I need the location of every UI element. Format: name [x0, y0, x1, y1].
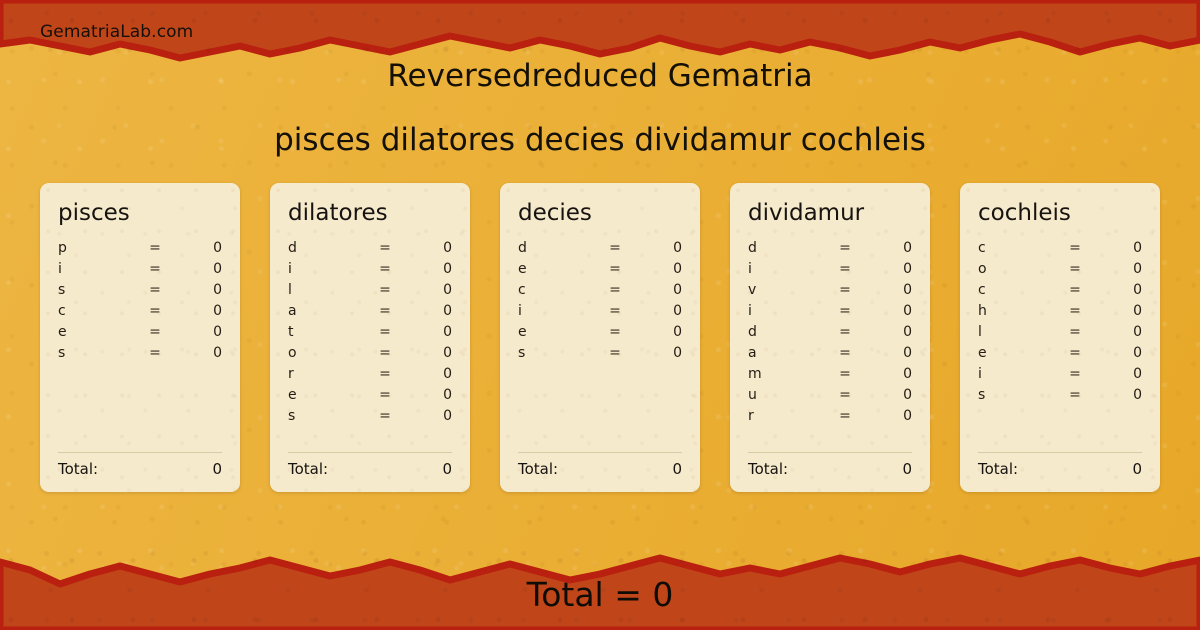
- card-divider: [58, 452, 222, 453]
- letter-label: i: [518, 303, 596, 319]
- letter-value: 0: [174, 261, 222, 277]
- letter-row: e = 0: [518, 324, 682, 345]
- letter-value: 0: [1094, 282, 1142, 298]
- letter-value: 0: [404, 261, 452, 277]
- letter-row: r = 0: [748, 408, 912, 429]
- letter-label: o: [288, 345, 366, 361]
- letter-value: 0: [864, 282, 912, 298]
- letter-label: e: [978, 345, 1056, 361]
- letter-value: 0: [404, 324, 452, 340]
- equals-sign: =: [596, 261, 634, 277]
- card-total-label: Total:: [748, 460, 788, 478]
- card-total-row: Total: 0: [748, 460, 912, 478]
- letter-label: d: [288, 240, 366, 256]
- equals-sign: =: [1056, 324, 1094, 340]
- letter-row: o = 0: [288, 345, 452, 366]
- letter-label: o: [978, 261, 1056, 277]
- letter-label: c: [58, 303, 136, 319]
- equals-sign: =: [1056, 366, 1094, 382]
- equals-sign: =: [366, 303, 404, 319]
- letter-label: r: [288, 366, 366, 382]
- letter-label: d: [748, 240, 826, 256]
- equals-sign: =: [366, 345, 404, 361]
- card-divider: [288, 452, 452, 453]
- letter-label: i: [748, 261, 826, 277]
- equals-sign: =: [366, 282, 404, 298]
- letter-value: 0: [404, 240, 452, 256]
- word-card-title: dividamur: [748, 201, 912, 226]
- letter-row: i = 0: [288, 261, 452, 282]
- equals-sign: =: [136, 303, 174, 319]
- letter-value: 0: [634, 303, 682, 319]
- equals-sign: =: [136, 324, 174, 340]
- letter-value: 0: [1094, 324, 1142, 340]
- letter-label: i: [978, 366, 1056, 382]
- letter-value-rows: c = 0 o = 0 c = 0 h = 0: [978, 240, 1142, 442]
- word-card: pisces p = 0 i = 0 s = 0 c: [40, 183, 240, 492]
- letter-value: 0: [634, 282, 682, 298]
- letter-row: a = 0: [748, 345, 912, 366]
- letter-row: s = 0: [518, 345, 682, 366]
- letter-label: c: [978, 282, 1056, 298]
- letter-label: e: [518, 261, 596, 277]
- letter-row: m = 0: [748, 366, 912, 387]
- word-card-list: pisces p = 0 i = 0 s = 0 c: [40, 183, 1160, 492]
- equals-sign: =: [826, 240, 864, 256]
- letter-row: i = 0: [978, 366, 1142, 387]
- letter-label: a: [748, 345, 826, 361]
- letter-value: 0: [174, 303, 222, 319]
- letter-value: 0: [404, 345, 452, 361]
- letter-value: 0: [864, 261, 912, 277]
- equals-sign: =: [826, 282, 864, 298]
- card-total-label: Total:: [58, 460, 98, 478]
- letter-value-rows: d = 0 i = 0 l = 0 a = 0: [288, 240, 452, 442]
- letter-label: s: [518, 345, 596, 361]
- equals-sign: =: [136, 345, 174, 361]
- letter-row: i = 0: [748, 261, 912, 282]
- equals-sign: =: [366, 366, 404, 382]
- card-total-value: 0: [672, 460, 682, 478]
- letter-value: 0: [404, 366, 452, 382]
- letter-label: s: [978, 387, 1056, 403]
- card-total-row: Total: 0: [58, 460, 222, 478]
- letter-row: h = 0: [978, 303, 1142, 324]
- letter-row: l = 0: [978, 324, 1142, 345]
- letter-row: t = 0: [288, 324, 452, 345]
- equals-sign: =: [596, 303, 634, 319]
- letter-value: 0: [864, 408, 912, 424]
- word-card-title: dilatores: [288, 201, 452, 226]
- card-divider: [518, 452, 682, 453]
- card-total-value: 0: [1132, 460, 1142, 478]
- letter-value: 0: [634, 261, 682, 277]
- letter-row: i = 0: [58, 261, 222, 282]
- card-total-label: Total:: [518, 460, 558, 478]
- equals-sign: =: [596, 282, 634, 298]
- letter-label: s: [58, 345, 136, 361]
- letter-row: c = 0: [978, 282, 1142, 303]
- letter-row: u = 0: [748, 387, 912, 408]
- card-divider: [978, 452, 1142, 453]
- equals-sign: =: [366, 261, 404, 277]
- letter-row: d = 0: [748, 324, 912, 345]
- letter-label: t: [288, 324, 366, 340]
- letter-label: i: [288, 261, 366, 277]
- letter-value: 0: [1094, 387, 1142, 403]
- letter-value: 0: [634, 240, 682, 256]
- equals-sign: =: [1056, 345, 1094, 361]
- word-card-title: pisces: [58, 201, 222, 226]
- equals-sign: =: [596, 345, 634, 361]
- letter-label: e: [288, 387, 366, 403]
- card-total-value: 0: [902, 460, 912, 478]
- letter-value: 0: [864, 240, 912, 256]
- equals-sign: =: [826, 261, 864, 277]
- equals-sign: =: [1056, 303, 1094, 319]
- equals-sign: =: [1056, 282, 1094, 298]
- letter-label: p: [58, 240, 136, 256]
- letter-row: e = 0: [518, 261, 682, 282]
- letter-label: u: [748, 387, 826, 403]
- letter-value: 0: [174, 324, 222, 340]
- letter-row: e = 0: [58, 324, 222, 345]
- word-card: dividamur d = 0 i = 0 v = 0 i: [730, 183, 930, 492]
- card-total-row: Total: 0: [288, 460, 452, 478]
- letter-row: r = 0: [288, 366, 452, 387]
- equals-sign: =: [136, 261, 174, 277]
- letter-row: v = 0: [748, 282, 912, 303]
- letter-label: c: [518, 282, 596, 298]
- letter-value: 0: [404, 303, 452, 319]
- equals-sign: =: [826, 345, 864, 361]
- letter-value: 0: [1094, 303, 1142, 319]
- grand-total: Total = 0: [0, 575, 1200, 614]
- letter-label: i: [58, 261, 136, 277]
- equals-sign: =: [1056, 240, 1094, 256]
- card-total-row: Total: 0: [518, 460, 682, 478]
- letter-value: 0: [404, 387, 452, 403]
- letter-value: 0: [174, 345, 222, 361]
- letter-label: a: [288, 303, 366, 319]
- equals-sign: =: [366, 408, 404, 424]
- card-total-label: Total:: [978, 460, 1018, 478]
- card-total-value: 0: [212, 460, 222, 478]
- card-total-row: Total: 0: [978, 460, 1142, 478]
- letter-value-rows: d = 0 e = 0 c = 0 i = 0: [518, 240, 682, 442]
- letter-row: e = 0: [978, 345, 1142, 366]
- letter-label: l: [978, 324, 1056, 340]
- letter-value: 0: [174, 282, 222, 298]
- letter-label: e: [58, 324, 136, 340]
- letter-row: l = 0: [288, 282, 452, 303]
- letter-label: d: [518, 240, 596, 256]
- letter-value: 0: [1094, 240, 1142, 256]
- letter-row: i = 0: [518, 303, 682, 324]
- site-logo[interactable]: GematriaLab.com: [40, 22, 193, 42]
- letter-row: s = 0: [978, 387, 1142, 408]
- letter-label: m: [748, 366, 826, 382]
- letter-row: o = 0: [978, 261, 1142, 282]
- letter-label: r: [748, 408, 826, 424]
- word-card: cochleis c = 0 o = 0 c = 0 h: [960, 183, 1160, 492]
- letter-label: v: [748, 282, 826, 298]
- letter-row: d = 0: [288, 240, 452, 261]
- letter-value: 0: [634, 345, 682, 361]
- equals-sign: =: [826, 387, 864, 403]
- equals-sign: =: [366, 387, 404, 403]
- word-card-title: decies: [518, 201, 682, 226]
- letter-row: e = 0: [288, 387, 452, 408]
- equals-sign: =: [826, 366, 864, 382]
- letter-label: d: [748, 324, 826, 340]
- equals-sign: =: [136, 240, 174, 256]
- gematria-result-card: GematriaLab.com Reversedreduced Gematria…: [0, 0, 1200, 630]
- letter-row: d = 0: [518, 240, 682, 261]
- letter-label: e: [518, 324, 596, 340]
- letter-value: 0: [864, 345, 912, 361]
- letter-row: c = 0: [518, 282, 682, 303]
- letter-label: s: [288, 408, 366, 424]
- letter-label: s: [58, 282, 136, 298]
- page-title: Reversedreduced Gematria: [0, 58, 1200, 94]
- equals-sign: =: [1056, 261, 1094, 277]
- equals-sign: =: [826, 324, 864, 340]
- letter-value-rows: d = 0 i = 0 v = 0 i = 0: [748, 240, 912, 442]
- letter-row: i = 0: [748, 303, 912, 324]
- letter-value-rows: p = 0 i = 0 s = 0 c = 0: [58, 240, 222, 442]
- card-total-label: Total:: [288, 460, 328, 478]
- letter-row: s = 0: [58, 345, 222, 366]
- equals-sign: =: [366, 240, 404, 256]
- equals-sign: =: [826, 303, 864, 319]
- letter-row: p = 0: [58, 240, 222, 261]
- word-card: decies d = 0 e = 0 c = 0 i: [500, 183, 700, 492]
- letter-value: 0: [404, 408, 452, 424]
- letter-label: c: [978, 240, 1056, 256]
- letter-value: 0: [634, 324, 682, 340]
- equals-sign: =: [136, 282, 174, 298]
- letter-value: 0: [1094, 345, 1142, 361]
- letter-row: a = 0: [288, 303, 452, 324]
- letter-value: 0: [864, 387, 912, 403]
- letter-value: 0: [864, 303, 912, 319]
- word-card: dilatores d = 0 i = 0 l = 0 a: [270, 183, 470, 492]
- equals-sign: =: [826, 408, 864, 424]
- letter-value: 0: [404, 282, 452, 298]
- letter-row: s = 0: [288, 408, 452, 429]
- card-total-value: 0: [442, 460, 452, 478]
- letter-label: i: [748, 303, 826, 319]
- letter-value: 0: [1094, 366, 1142, 382]
- equals-sign: =: [596, 240, 634, 256]
- letter-value: 0: [174, 240, 222, 256]
- letter-label: l: [288, 282, 366, 298]
- letter-row: c = 0: [978, 240, 1142, 261]
- letter-value: 0: [864, 324, 912, 340]
- letter-label: h: [978, 303, 1056, 319]
- equals-sign: =: [1056, 387, 1094, 403]
- letter-value: 0: [864, 366, 912, 382]
- letter-value: 0: [1094, 261, 1142, 277]
- letter-row: s = 0: [58, 282, 222, 303]
- word-card-title: cochleis: [978, 201, 1142, 226]
- letter-row: c = 0: [58, 303, 222, 324]
- equals-sign: =: [596, 324, 634, 340]
- card-divider: [748, 452, 912, 453]
- letter-row: d = 0: [748, 240, 912, 261]
- phrase-subtitle: pisces dilatores decies dividamur cochle…: [0, 122, 1200, 158]
- equals-sign: =: [366, 324, 404, 340]
